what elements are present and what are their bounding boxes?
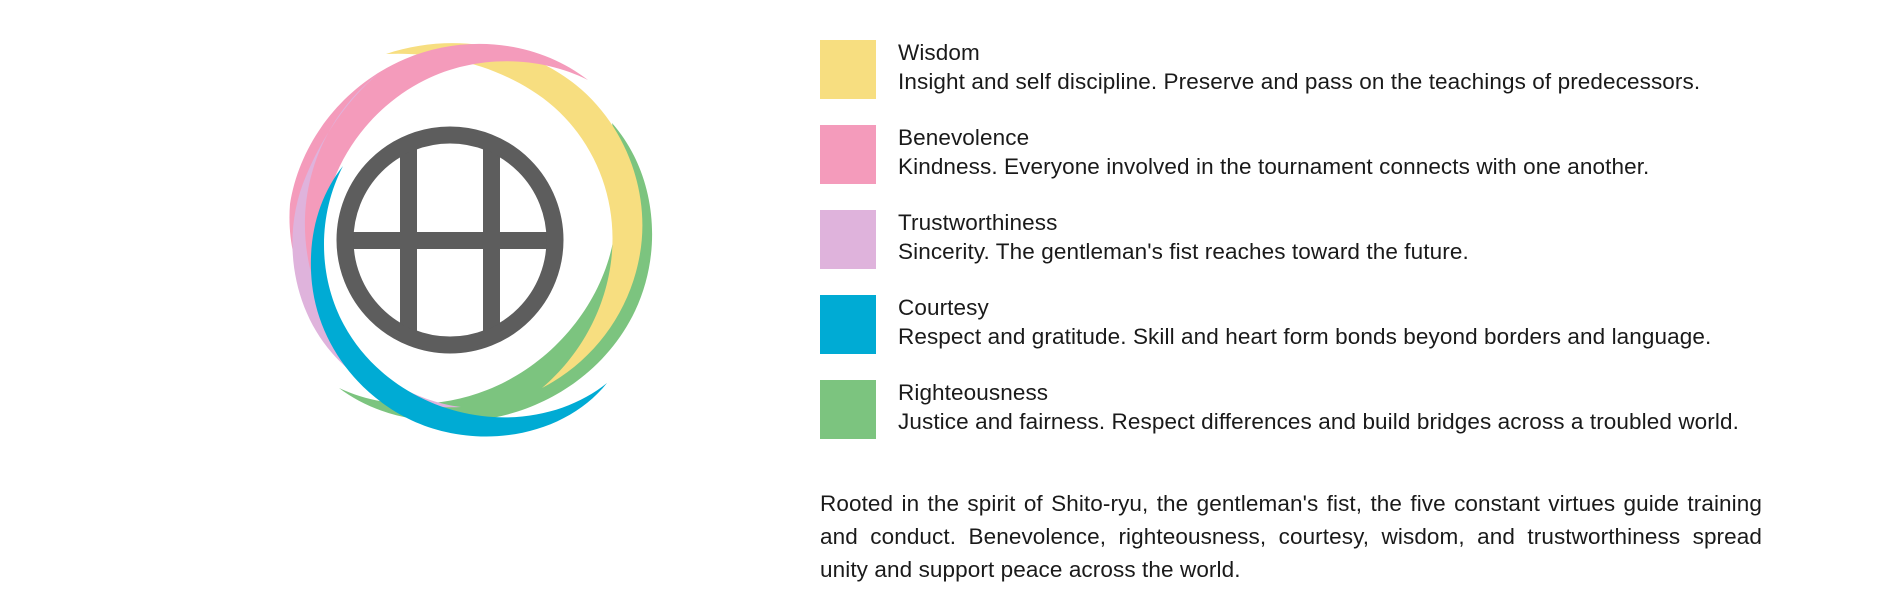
emblem-container [243, 28, 658, 448]
legend-item-courtesy: Courtesy Respect and gratitude. Skill an… [820, 293, 1880, 354]
legend-item-benevolence: Benevolence Kindness. Everyone involved … [820, 123, 1880, 184]
virtue-name: Righteousness [898, 378, 1739, 407]
legend-item-righteousness: Righteousness Justice and fairness. Resp… [820, 378, 1880, 439]
virtue-description: Justice and fairness. Respect difference… [898, 407, 1739, 437]
emblem-panel [0, 0, 820, 600]
swatch-courtesy [820, 295, 876, 354]
summary-paragraph: Rooted in the spirit of Shito-ryu, the g… [820, 487, 1762, 586]
legend-text-courtesy: Courtesy Respect and gratitude. Skill an… [898, 293, 1711, 352]
swatch-wisdom [820, 40, 876, 99]
legend-text-trustworthiness: Trustworthiness Sincerity. The gentleman… [898, 208, 1469, 267]
legend-item-trustworthiness: Trustworthiness Sincerity. The gentleman… [820, 208, 1880, 269]
legend-text-righteousness: Righteousness Justice and fairness. Resp… [898, 378, 1739, 437]
virtue-description: Kindness. Everyone involved in the tourn… [898, 152, 1649, 182]
swatch-trustworthiness [820, 210, 876, 269]
legend-text-benevolence: Benevolence Kindness. Everyone involved … [898, 123, 1649, 182]
virtue-name: Trustworthiness [898, 208, 1469, 237]
virtue-name: Wisdom [898, 38, 1700, 67]
virtue-name: Benevolence [898, 123, 1649, 152]
virtue-description: Respect and gratitude. Skill and heart f… [898, 322, 1711, 352]
virtues-legend: Wisdom Insight and self discipline. Pres… [820, 38, 1880, 439]
swatch-righteousness [820, 380, 876, 439]
legend-item-wisdom: Wisdom Insight and self discipline. Pres… [820, 38, 1880, 99]
virtue-description: Sincerity. The gentleman's fist reaches … [898, 237, 1469, 267]
virtue-description: Insight and self discipline. Preserve an… [898, 67, 1700, 97]
swatch-benevolence [820, 125, 876, 184]
five-virtues-circle-emblem [243, 28, 658, 448]
content-panel: Wisdom Insight and self discipline. Pres… [820, 0, 1900, 600]
gentlemans-fist-glyph [343, 123, 557, 357]
legend-text-wisdom: Wisdom Insight and self discipline. Pres… [898, 38, 1700, 97]
page-root: Wisdom Insight and self discipline. Pres… [0, 0, 1900, 600]
virtue-name: Courtesy [898, 293, 1711, 322]
